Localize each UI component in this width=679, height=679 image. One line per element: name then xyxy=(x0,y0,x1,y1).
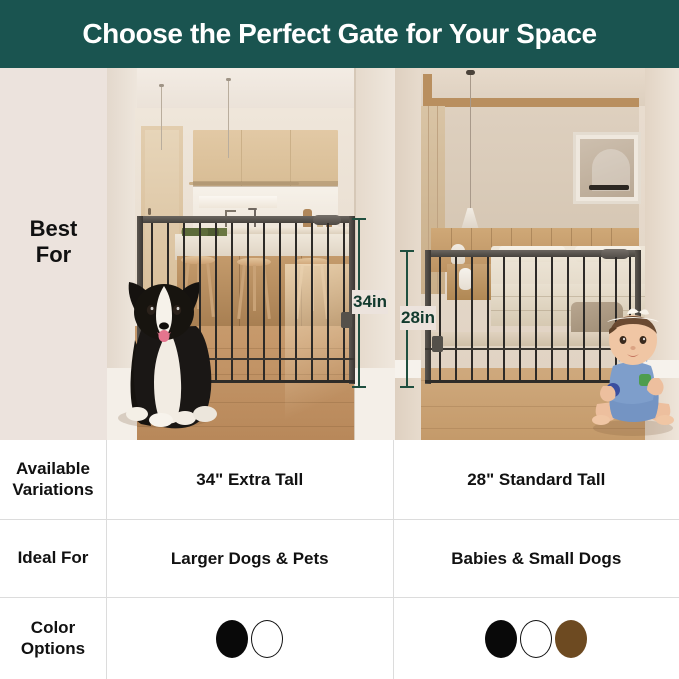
measurement-28in: 28in xyxy=(400,250,446,388)
page-title: Choose the Perfect Gate for Your Space xyxy=(82,18,596,50)
table-row-available-variations: Available Variations 34" Extra Tall 28" … xyxy=(0,440,679,520)
gate-bar xyxy=(567,257,569,381)
page-header-banner: Choose the Perfect Gate for Your Space xyxy=(0,0,679,68)
measure-cap-bottom xyxy=(400,386,414,388)
measure-label-28in: 28in xyxy=(400,306,436,330)
color-swatch-brown[interactable] xyxy=(555,620,587,658)
faucet-arm xyxy=(225,210,236,212)
row-label-ideal-for: Ideal For xyxy=(0,520,107,597)
pendant-mount xyxy=(226,78,231,81)
door-knob-icon xyxy=(148,208,151,215)
row-label-line1: Color xyxy=(21,618,85,638)
color-swatch-white[interactable] xyxy=(251,620,283,658)
color-swatch-black[interactable] xyxy=(485,620,517,658)
swatch-group-left xyxy=(216,620,283,658)
gate-bar xyxy=(519,257,521,381)
measure-label-34in: 34in xyxy=(352,290,388,314)
framed-mirror xyxy=(573,132,641,204)
cell-ideal-right: Babies & Small Dogs xyxy=(394,520,679,597)
floating-shelf xyxy=(199,196,277,208)
hero-image-row: Best For xyxy=(0,68,679,440)
row-label-line1: Ideal For xyxy=(18,548,89,568)
gate-bar xyxy=(551,257,553,381)
comparison-infographic: Choose the Perfect Gate for Your Space B… xyxy=(0,0,679,679)
measure-cap-bottom xyxy=(352,386,366,388)
swatch-group-right xyxy=(485,620,587,658)
row-label-line1: Available xyxy=(12,459,93,479)
color-swatch-white[interactable] xyxy=(520,620,552,658)
row-label-color-options: Color Options xyxy=(0,598,107,679)
pendant-mount xyxy=(159,84,164,87)
cell-ideal-left: Larger Dogs & Pets xyxy=(107,520,394,597)
gate-bar xyxy=(455,257,457,381)
row-label-line2: Variations xyxy=(12,480,93,500)
pendant-cord xyxy=(228,80,229,158)
upper-cabinets xyxy=(193,130,338,186)
best-for-label-cell: Best For xyxy=(0,68,107,440)
row-label-available-variations: Available Variations xyxy=(0,440,107,519)
pendant-cord xyxy=(470,72,471,210)
comparison-table: Available Variations 34" Extra Tall 28" … xyxy=(0,440,679,679)
cell-variations-right: 28" Standard Tall xyxy=(394,440,679,519)
best-for-label-line1: Best xyxy=(0,216,107,242)
gate-bar xyxy=(503,257,505,381)
wood-beam xyxy=(423,98,639,107)
gate-bar xyxy=(535,257,537,381)
table-row-ideal-for: Ideal For Larger Dogs & Pets Babies & Sm… xyxy=(0,520,679,598)
mirror-glass xyxy=(580,139,634,197)
baby-sitting xyxy=(585,308,679,436)
best-for-label-line2: For xyxy=(0,242,107,268)
gate-latch-icon xyxy=(341,312,352,328)
cell-colors-right xyxy=(394,598,679,679)
wood-beam-side xyxy=(423,74,432,102)
gate-bar xyxy=(487,257,489,381)
best-for-label: Best For xyxy=(0,216,107,268)
measurement-34in: 34in xyxy=(352,218,398,388)
sink-faucet-arm xyxy=(248,208,257,210)
cabinet-seam xyxy=(290,130,291,186)
mirror-shadow xyxy=(589,185,629,190)
pendant-cord xyxy=(161,86,162,150)
gate-bar xyxy=(471,257,473,381)
cabinet-seam xyxy=(241,130,242,186)
table-row-color-options: Color Options xyxy=(0,598,679,679)
row-label-line2: Options xyxy=(21,639,85,659)
color-swatch-black[interactable] xyxy=(216,620,248,658)
pendant-mount xyxy=(466,70,475,75)
cell-colors-left xyxy=(107,598,394,679)
cell-variations-left: 34" Extra Tall xyxy=(107,440,394,519)
border-collie-dog xyxy=(109,268,219,430)
